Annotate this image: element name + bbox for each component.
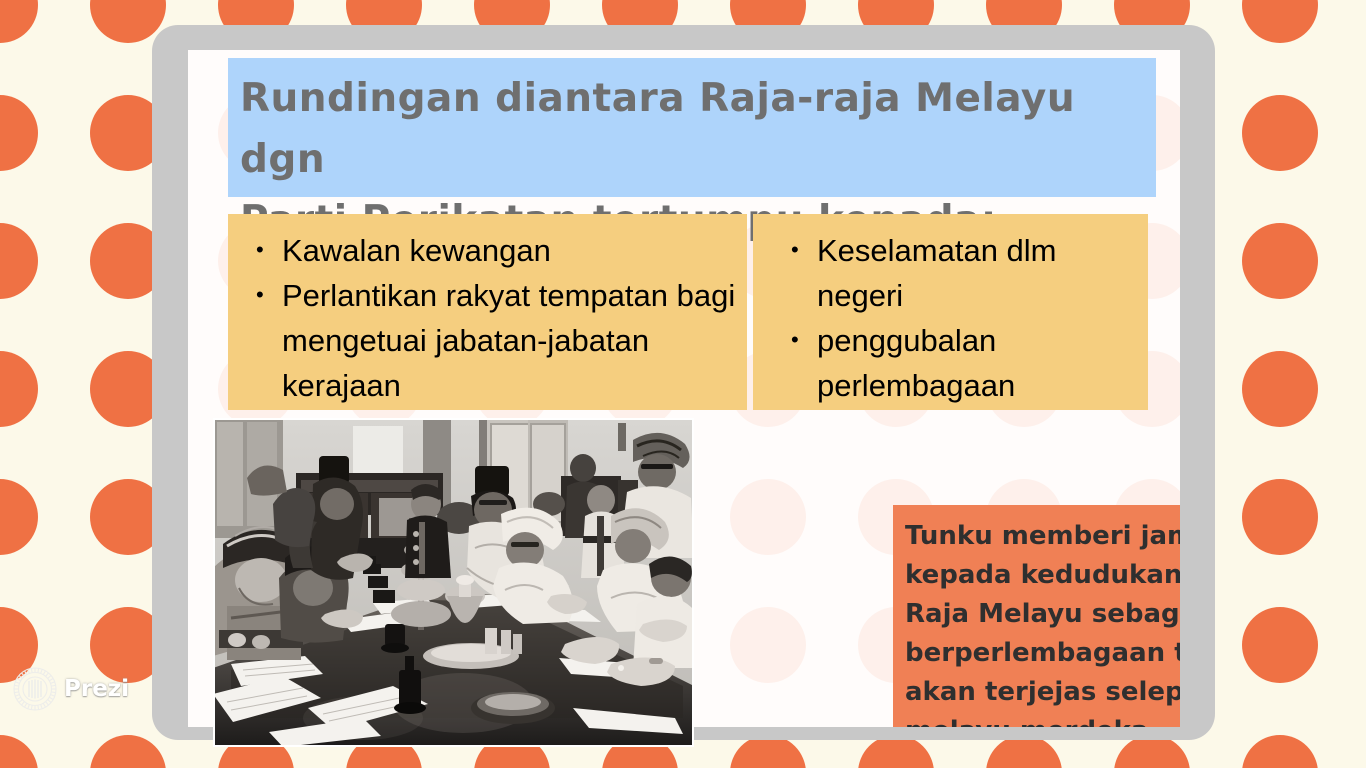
background-dot (90, 735, 166, 768)
list-item: Keselamatan dlm negeri (791, 228, 1138, 318)
background-dot (1242, 479, 1318, 555)
background-dot (0, 735, 38, 768)
background-dot (1242, 735, 1318, 768)
background-dot (1242, 95, 1318, 171)
panel-dot (730, 479, 806, 555)
background-dot (0, 479, 38, 555)
list-item: penggubalan perlembagaan (791, 318, 1138, 408)
bullet-list-right: Keselamatan dlm negeri penggubalan perle… (753, 214, 1148, 408)
prezi-logo[interactable]: Prezi (12, 666, 129, 712)
background-dot (0, 351, 38, 427)
background-dot (1242, 607, 1318, 683)
background-dot (0, 223, 38, 299)
note-text: Tunku memberi jaminan kepada kedudukan R… (905, 517, 1180, 727)
background-dot (0, 95, 38, 171)
list-item: Perlantikan rakyat tempatan bagi mengetu… (256, 273, 737, 408)
list-item: Kawalan kewangan (256, 228, 737, 273)
historical-photo (213, 418, 694, 747)
note-box: Tunku memberi jaminan kepada kedudukan R… (893, 505, 1180, 727)
background-dot (90, 0, 166, 43)
background-dot (1242, 351, 1318, 427)
prezi-sunburst-icon (12, 666, 58, 712)
panel-dot (730, 607, 806, 683)
background-dot (0, 0, 38, 43)
slide-title-box: Rundingan diantara Raja-raja Melayu dgn … (228, 58, 1156, 197)
background-dot (1242, 0, 1318, 43)
bullet-list-left: Kawalan kewangan Perlantikan rakyat temp… (228, 214, 747, 408)
bullet-box-right: Keselamatan dlm negeri penggubalan perle… (753, 214, 1148, 410)
prezi-wordmark: Prezi (64, 676, 129, 702)
background-dot (1242, 223, 1318, 299)
bullet-box-left: Kawalan kewangan Perlantikan rakyat temp… (228, 214, 747, 410)
